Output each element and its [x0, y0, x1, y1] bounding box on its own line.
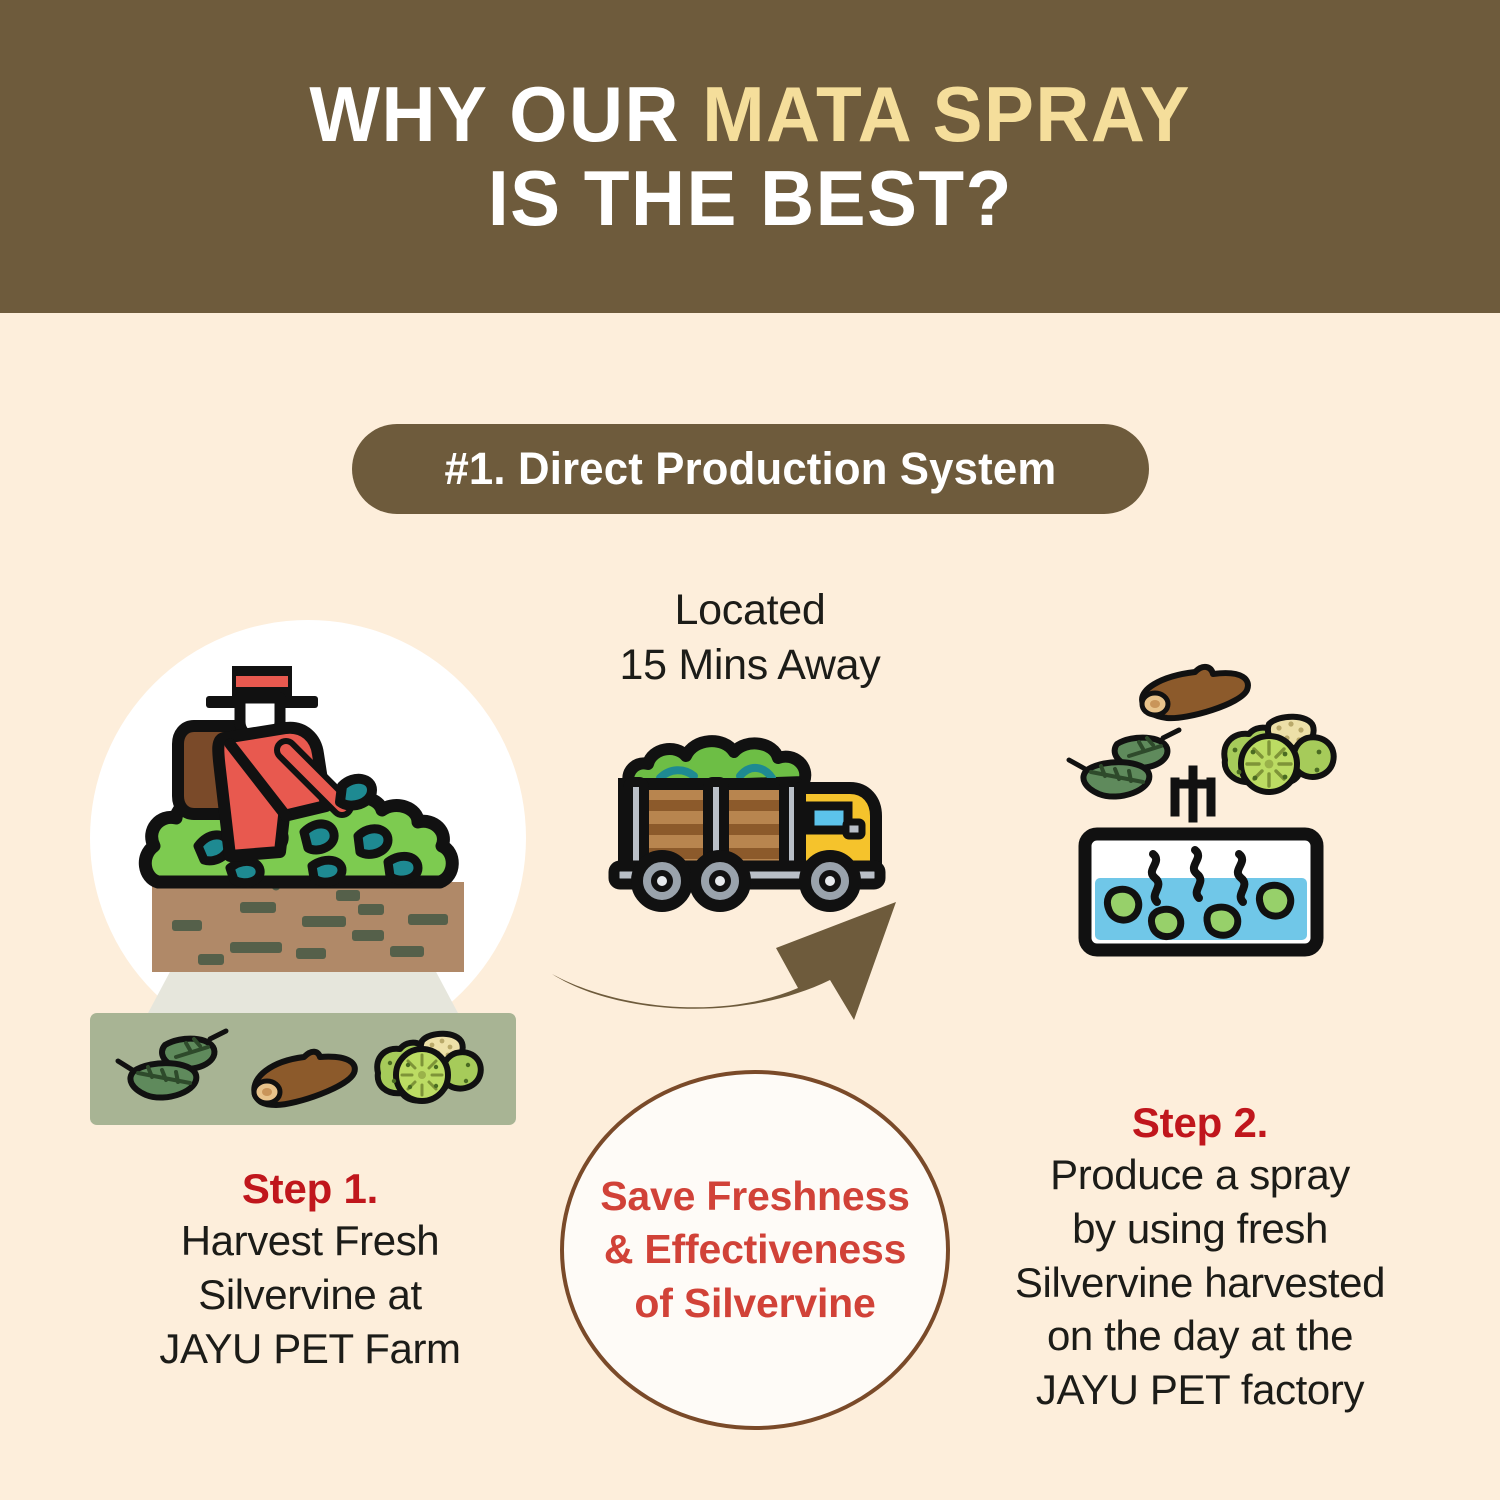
- silvervine-fruit-icon: [1224, 717, 1333, 792]
- page-title-plain: WHY OUR: [309, 70, 702, 158]
- step2-body-line-2: by using fresh: [985, 1202, 1415, 1256]
- step2-body-line-3: Silvervine harvested: [985, 1256, 1415, 1310]
- transit-line-2: 15 Mins Away: [520, 638, 980, 693]
- step1-body-line-2: Silvervine at: [75, 1268, 545, 1322]
- silvervine-leaves-icon: [118, 1031, 226, 1098]
- silvervine-stick-icon: [1142, 667, 1248, 718]
- step1-caption: Step 1. Harvest Fresh Silvervine at JAYU…: [75, 1163, 545, 1375]
- section-heading-pill: #1. Direct Production System: [352, 424, 1149, 514]
- highlight-badge: Save Freshness & Effectiveness of Silver…: [560, 1070, 950, 1430]
- silvervine-leaves-icon: [1069, 730, 1179, 797]
- silvervine-fruit-icon: [377, 1034, 481, 1101]
- highlight-line-3: of Silvervine: [634, 1277, 875, 1330]
- curved-arrow-icon: [548, 892, 968, 1037]
- page-title-line-2: IS THE BEST?: [488, 157, 1013, 240]
- press-glyph-icon: [1175, 770, 1211, 818]
- step1-tray-items: [90, 1013, 516, 1125]
- step2-body-line-1: Produce a spray: [985, 1148, 1415, 1202]
- highlight-line-2: & Effectiveness: [604, 1223, 906, 1276]
- step1-heading: Step 1.: [75, 1163, 545, 1214]
- step2-body-line-5: JAYU PET factory: [985, 1363, 1415, 1417]
- step1-body-line-3: JAYU PET Farm: [75, 1322, 545, 1376]
- page-title-accent: MATA SPRAY: [702, 70, 1191, 158]
- highlight-line-1: Save Freshness: [600, 1170, 909, 1223]
- step2-body-line-4: on the day at the: [985, 1309, 1415, 1363]
- step2-heading: Step 2.: [985, 1097, 1415, 1148]
- transit-line-1: Located: [520, 583, 980, 638]
- section-heading-label: #1. Direct Production System: [445, 443, 1057, 495]
- transit-distance-label: Located 15 Mins Away: [520, 583, 980, 693]
- silvervine-stick-icon: [254, 1052, 355, 1105]
- page-title-line-1: WHY OUR MATA SPRAY: [309, 73, 1191, 156]
- farmer-harvesting-silvervine-icon: [90, 620, 526, 1056]
- extraction-tank-icon: [1003, 622, 1399, 1018]
- header-banner: WHY OUR MATA SPRAY IS THE BEST?: [0, 0, 1500, 313]
- step2-caption: Step 2. Produce a spray by using fresh S…: [985, 1097, 1415, 1417]
- step1-body-line-1: Harvest Fresh: [75, 1214, 545, 1268]
